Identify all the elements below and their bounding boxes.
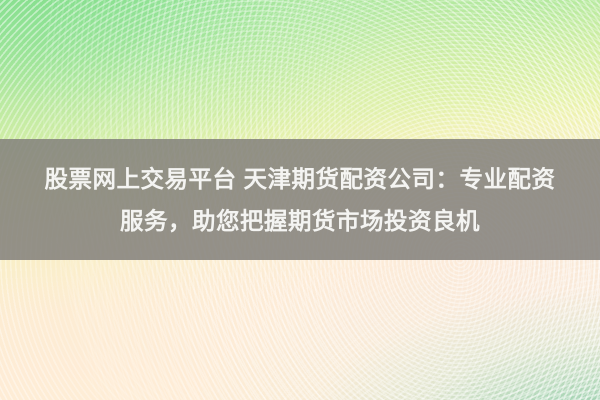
- promo-banner: 股票网上交易平台 天津期货配资公司：专业配资 服务，助您把握期货市场投资良机: [0, 0, 600, 400]
- background-gradient: [0, 0, 600, 400]
